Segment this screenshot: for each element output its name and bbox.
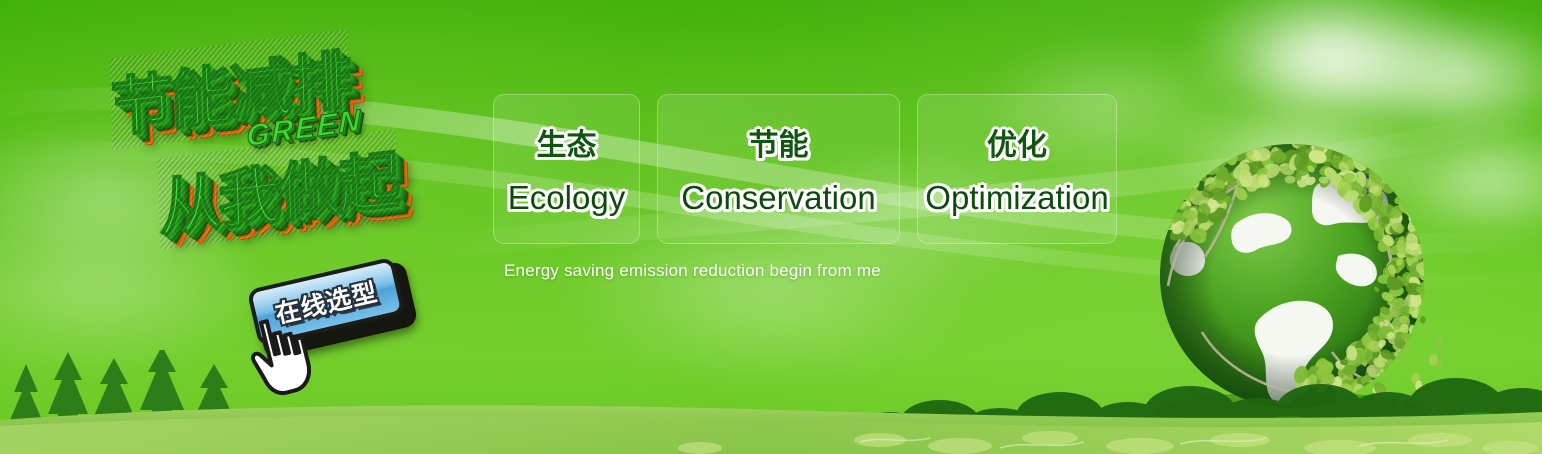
feature-cn-label: 节能 bbox=[749, 131, 809, 161]
online-selection-button[interactable]: 在线选型 bbox=[247, 255, 414, 354]
cloud-shape bbox=[1240, 20, 1430, 110]
headline-line-2: 从我做起 bbox=[157, 129, 398, 250]
feature-cn-label: 优化 bbox=[987, 131, 1047, 161]
headline-accent-word: GREEN bbox=[247, 104, 363, 155]
headline-line-1: 节能减排 bbox=[109, 29, 350, 150]
cloud-shape bbox=[1180, 0, 1480, 120]
feature-panel-group: 生态 Ecology 节能 Conservation 优化 Optimizati… bbox=[493, 94, 1117, 244]
cloud-shape bbox=[0, 200, 250, 370]
feature-panel-conservation[interactable]: 节能 Conservation bbox=[657, 94, 900, 244]
feature-en-label: Ecology bbox=[508, 181, 625, 214]
feature-panel-ecology[interactable]: 生态 Ecology bbox=[493, 94, 640, 244]
feature-cn-label: 生态 bbox=[537, 131, 597, 161]
feature-en-label: Conservation bbox=[681, 181, 875, 214]
tagline-text: Energy saving emission reduction begin f… bbox=[504, 261, 881, 281]
cloud-shape bbox=[0, 120, 240, 270]
button-label: 在线选型 bbox=[271, 273, 380, 331]
cloud-shape bbox=[1330, 10, 1542, 130]
feature-panel-optimization[interactable]: 优化 Optimization bbox=[917, 94, 1117, 244]
green-energy-banner: 节能减排 GREEN 从我做起 在线选型 生态 Ecology 节能 Conse… bbox=[0, 0, 1542, 454]
grass-field bbox=[0, 382, 1542, 454]
feature-en-label: Optimization bbox=[925, 181, 1108, 214]
headline-3d-artwork: 节能减排 GREEN 从我做起 bbox=[96, 34, 496, 274]
